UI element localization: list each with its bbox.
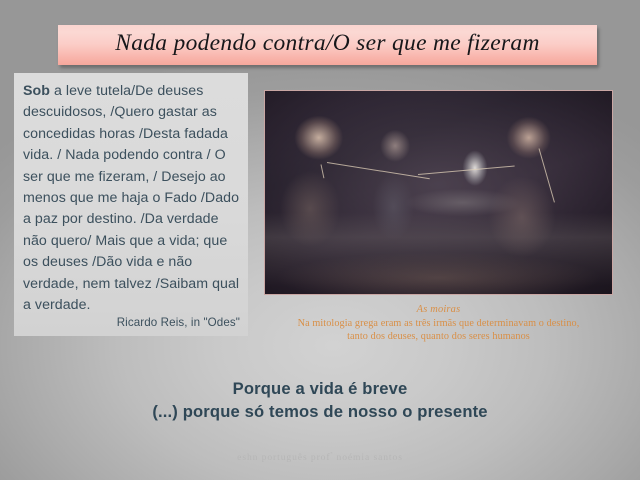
slide-title-banner: Nada podendo contra/O ser que me fizeram xyxy=(58,25,597,65)
headline-line-2: (...) porque só temos de nosso o present… xyxy=(0,401,640,424)
footer-suffix: noémia santos xyxy=(333,452,403,463)
poem-text: Sob a leve tutela/De deuses descuidosos,… xyxy=(23,81,241,316)
as-moiras-image xyxy=(264,90,613,295)
headline-line-1: Porque a vida é breve xyxy=(0,378,640,401)
poem-body: a leve tutela/De deuses descuidosos, /Qu… xyxy=(23,83,239,313)
caption-title: As moiras xyxy=(264,303,613,317)
thread-line xyxy=(539,148,555,202)
page-title: Nada podendo contra/O ser que me fizeram xyxy=(115,32,540,58)
thread-line xyxy=(418,166,515,175)
painting-artwork xyxy=(265,91,612,294)
bottom-headline: Porque a vida é breve (...) porque só te… xyxy=(0,378,640,423)
presentation-slide: Nada podendo contra/O ser que me fizeram… xyxy=(0,0,640,480)
image-caption: As moiras Na mitologia grega eram as trê… xyxy=(264,303,613,344)
poem-panel: Sob a leve tutela/De deuses descuidosos,… xyxy=(14,73,248,336)
slide-footer: eshn português profª noémia santos xyxy=(0,451,640,463)
caption-line-1: Na mitologia grega eram as três irmãs qu… xyxy=(264,317,613,331)
poem-lead-word: Sob xyxy=(23,83,50,99)
footer-prefix: eshn português prof xyxy=(237,452,330,463)
poem-credit: Ricardo Reis, in "Odes" xyxy=(117,316,240,329)
thread-line xyxy=(320,164,324,178)
thread-line xyxy=(327,162,430,179)
caption-line-2: tanto dos deuses, quanto dos seres human… xyxy=(264,330,613,344)
